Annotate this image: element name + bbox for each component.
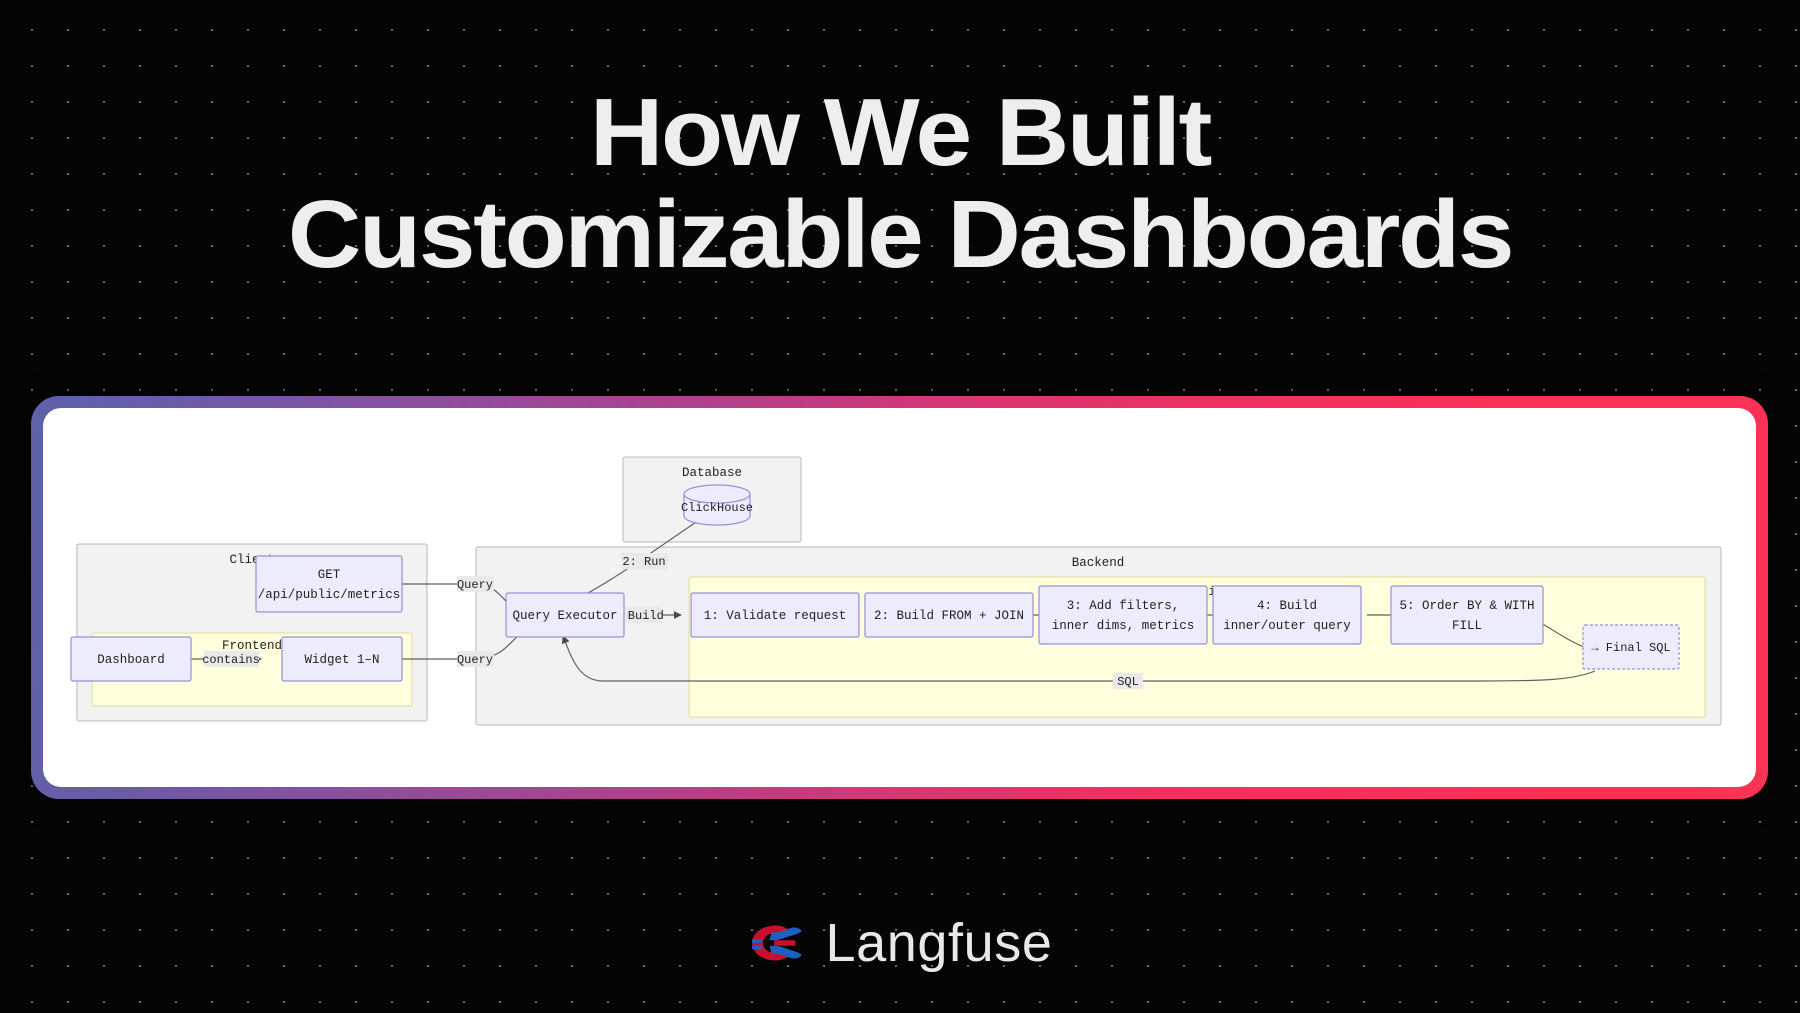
node-widget[interactable]: Widget 1–N [282, 637, 402, 681]
node-step-3-label-line-1: 3: Add filters, [1067, 599, 1180, 613]
edge-label-sql: SQL [1117, 675, 1139, 689]
langfuse-logo-icon [748, 920, 804, 966]
node-step-4-label-line-1: 4: Build [1257, 599, 1317, 613]
cluster-backend-label: Backend [1072, 556, 1125, 570]
node-step-1-validate[interactable]: 1: Validate request [691, 593, 859, 637]
node-dashboard[interactable]: Dashboard [71, 637, 191, 681]
page-title: How We Built Customizable Dashboards [0, 82, 1800, 286]
diagram-card-frame: Client Frontend Database Backend [31, 396, 1768, 799]
node-dashboard-label: Dashboard [97, 653, 165, 667]
node-step-3-box[interactable] [1039, 586, 1207, 644]
node-api-endpoint-method: GET [318, 568, 341, 582]
edge-label-run: 2: Run [622, 555, 665, 569]
node-api-endpoint-box[interactable] [256, 556, 402, 612]
node-step-5-label-line-1: 5: Order BY & WITH [1399, 599, 1534, 613]
node-api-endpoint-path: /api/public/metrics [258, 588, 401, 602]
edge-label-query-widget: Query [457, 653, 493, 667]
node-step-4-label-line-2: inner/outer query [1223, 619, 1351, 633]
node-step-4-box[interactable] [1213, 586, 1361, 644]
node-final-sql-label: → Final SQL [1591, 641, 1670, 655]
brand-lockup: Langfuse [0, 916, 1800, 970]
brand-name: Langfuse [826, 916, 1053, 970]
node-api-endpoint[interactable]: GET /api/public/metrics [256, 556, 402, 612]
node-step-5-order-by[interactable]: 5: Order BY & WITH FILL [1391, 586, 1543, 644]
architecture-diagram: Client Frontend Database Backend [43, 408, 1756, 787]
page-title-line-2: Customizable Dashboards [0, 184, 1800, 286]
node-step-5-label-line-2: FILL [1452, 619, 1482, 633]
node-step-3-label-line-2: inner dims, metrics [1052, 619, 1195, 633]
node-step-2-from-join[interactable]: 2: Build FROM + JOIN [865, 593, 1033, 637]
node-step-1-label: 1: Validate request [704, 609, 847, 623]
edge-label-query-api: Query [457, 578, 493, 592]
node-step-2-label: 2: Build FROM + JOIN [874, 609, 1024, 623]
node-step-4-inner-outer[interactable]: 4: Build inner/outer query [1213, 586, 1361, 644]
diagram-svg: Client Frontend Database Backend [43, 408, 1756, 787]
node-query-executor-label: Query Executor [512, 609, 617, 623]
node-step-5-box[interactable] [1391, 586, 1543, 644]
node-final-sql[interactable]: → Final SQL [1583, 625, 1679, 669]
node-query-executor[interactable]: Query Executor [506, 593, 624, 637]
node-step-3-filters[interactable]: 3: Add filters, inner dims, metrics [1039, 586, 1207, 644]
page-title-line-1: How We Built [0, 82, 1800, 184]
node-clickhouse-label: ClickHouse [681, 501, 753, 515]
cluster-database-label: Database [682, 466, 742, 480]
cluster-frontend-label: Frontend [222, 639, 282, 653]
diagram-card: Client Frontend Database Backend [43, 408, 1756, 787]
edge-label-contains: contains [202, 653, 260, 667]
node-clickhouse[interactable]: ClickHouse [681, 485, 753, 525]
node-widget-label: Widget 1–N [304, 653, 379, 667]
